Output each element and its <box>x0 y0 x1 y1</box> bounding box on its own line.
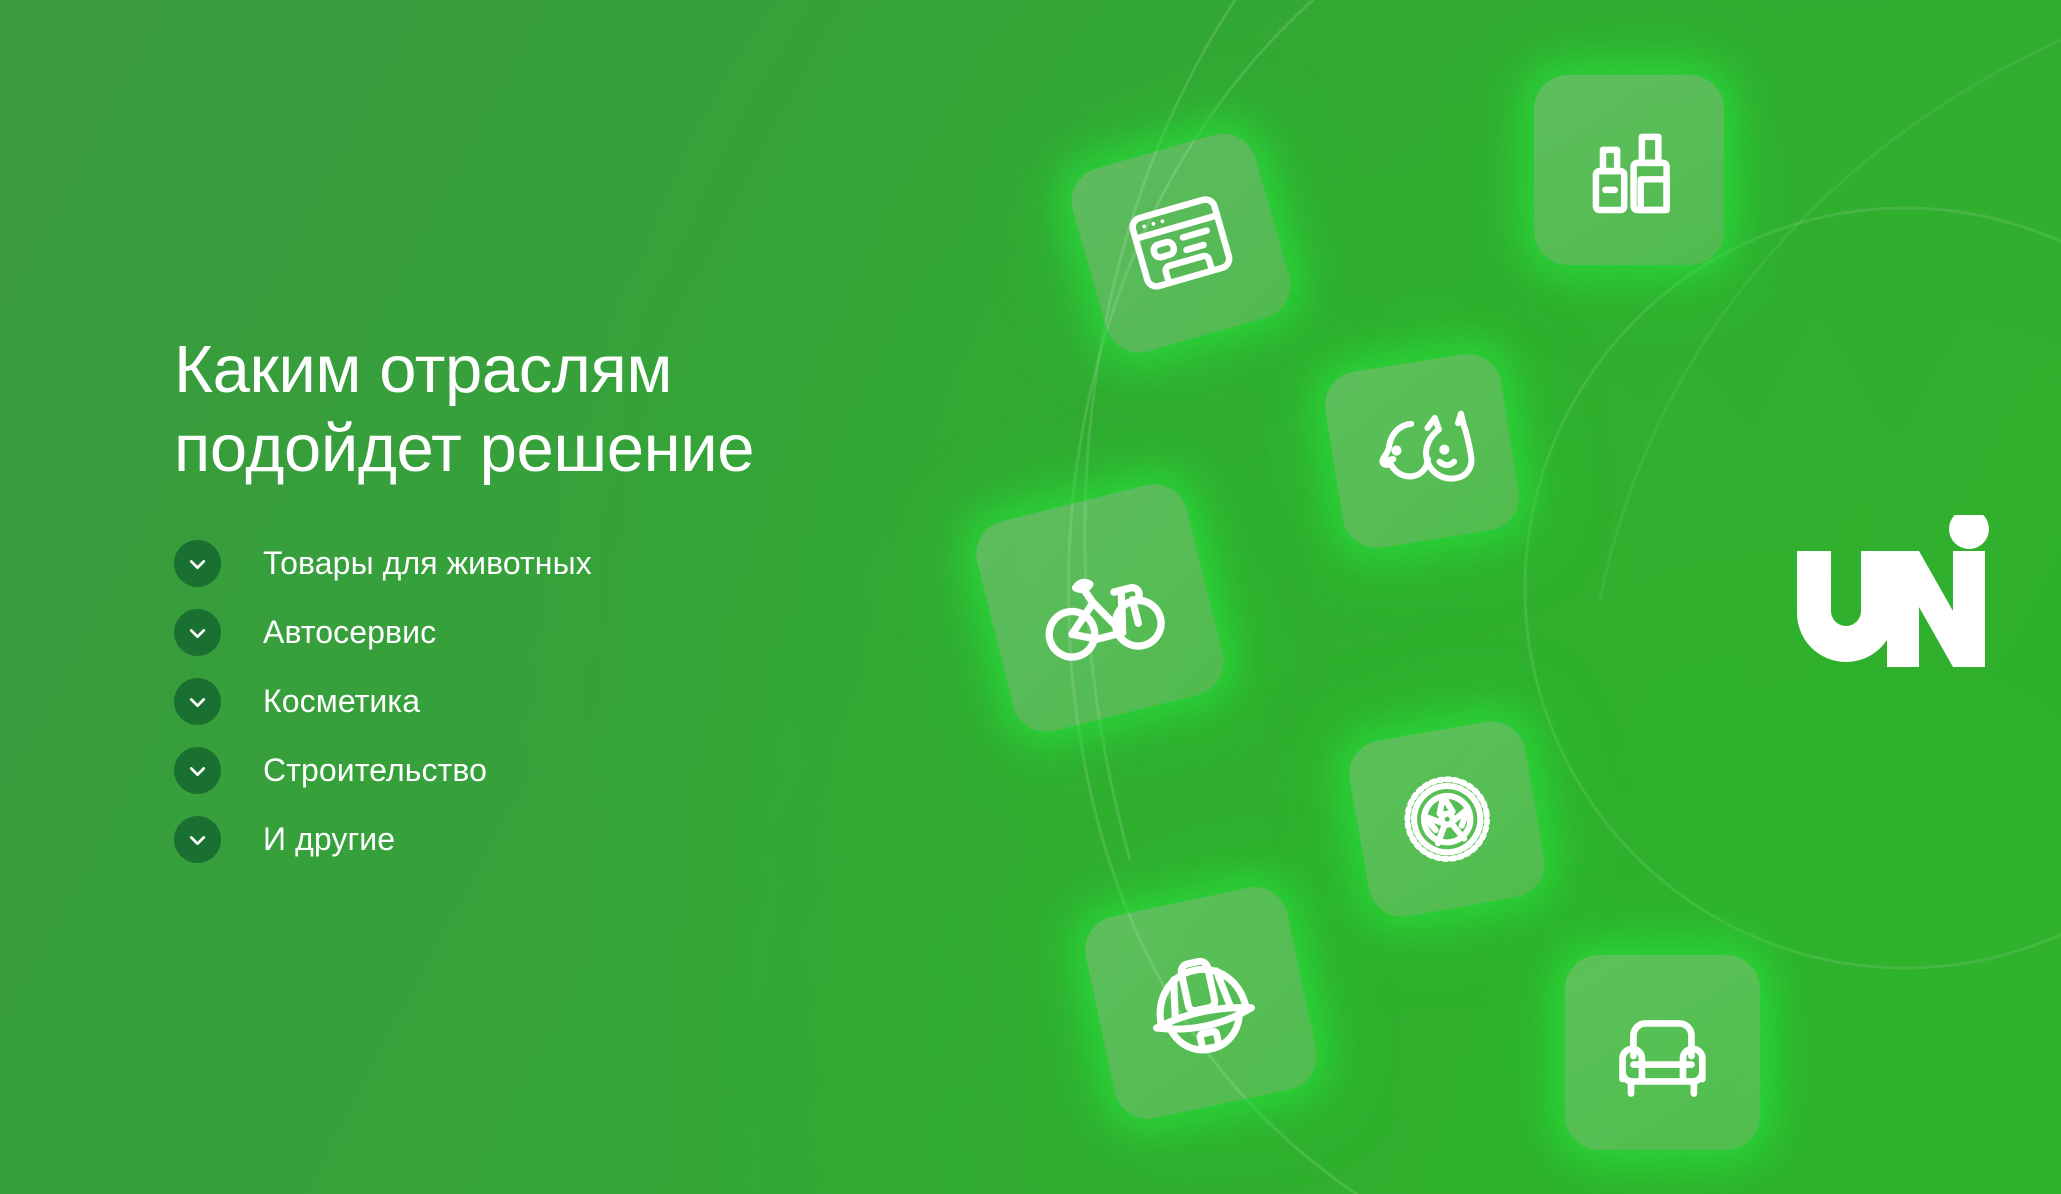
uni-logo <box>1795 515 1995 675</box>
list-item: Строительство <box>174 747 1074 794</box>
tile-armchair <box>1565 955 1760 1150</box>
check-icon <box>174 540 221 587</box>
check-icon <box>174 747 221 794</box>
tile-hard-hat <box>1079 881 1323 1125</box>
hard-hat-icon <box>1125 927 1276 1078</box>
list-item: Косметика <box>174 678 1074 725</box>
list-item-label: Косметика <box>263 683 420 720</box>
cosmetics-bottles-icon <box>1570 111 1688 229</box>
check-icon <box>174 816 221 863</box>
list-item: Товары для животных <box>174 540 1074 587</box>
car-wheel-icon <box>1383 755 1511 883</box>
armchair-icon <box>1602 992 1723 1113</box>
list-item-label: Строительство <box>263 752 487 789</box>
industry-list: Товары для животных Автосервис Косметика <box>174 540 1074 863</box>
list-item: И другие <box>174 816 1074 863</box>
check-icon <box>174 609 221 656</box>
page-title: Каким отраслям подойдет решение <box>174 331 1074 488</box>
dog-cat-icon <box>1359 388 1485 514</box>
browser-window-icon <box>1108 170 1254 316</box>
slide-background: Каким отраслям подойдет решение Товары д… <box>0 0 2061 1194</box>
tile-browser-window <box>1063 125 1298 360</box>
list-item-label: Товары для животных <box>263 545 592 582</box>
list-item: Автосервис <box>174 609 1074 656</box>
tile-cosmetics <box>1534 75 1724 265</box>
list-item-label: И другие <box>263 821 395 858</box>
check-icon <box>174 678 221 725</box>
content-column: Каким отраслям подойдет решение Товары д… <box>174 0 1074 1194</box>
list-item-label: Автосервис <box>263 614 436 651</box>
tile-pets <box>1320 349 1524 553</box>
tile-car-wheel <box>1344 716 1550 922</box>
